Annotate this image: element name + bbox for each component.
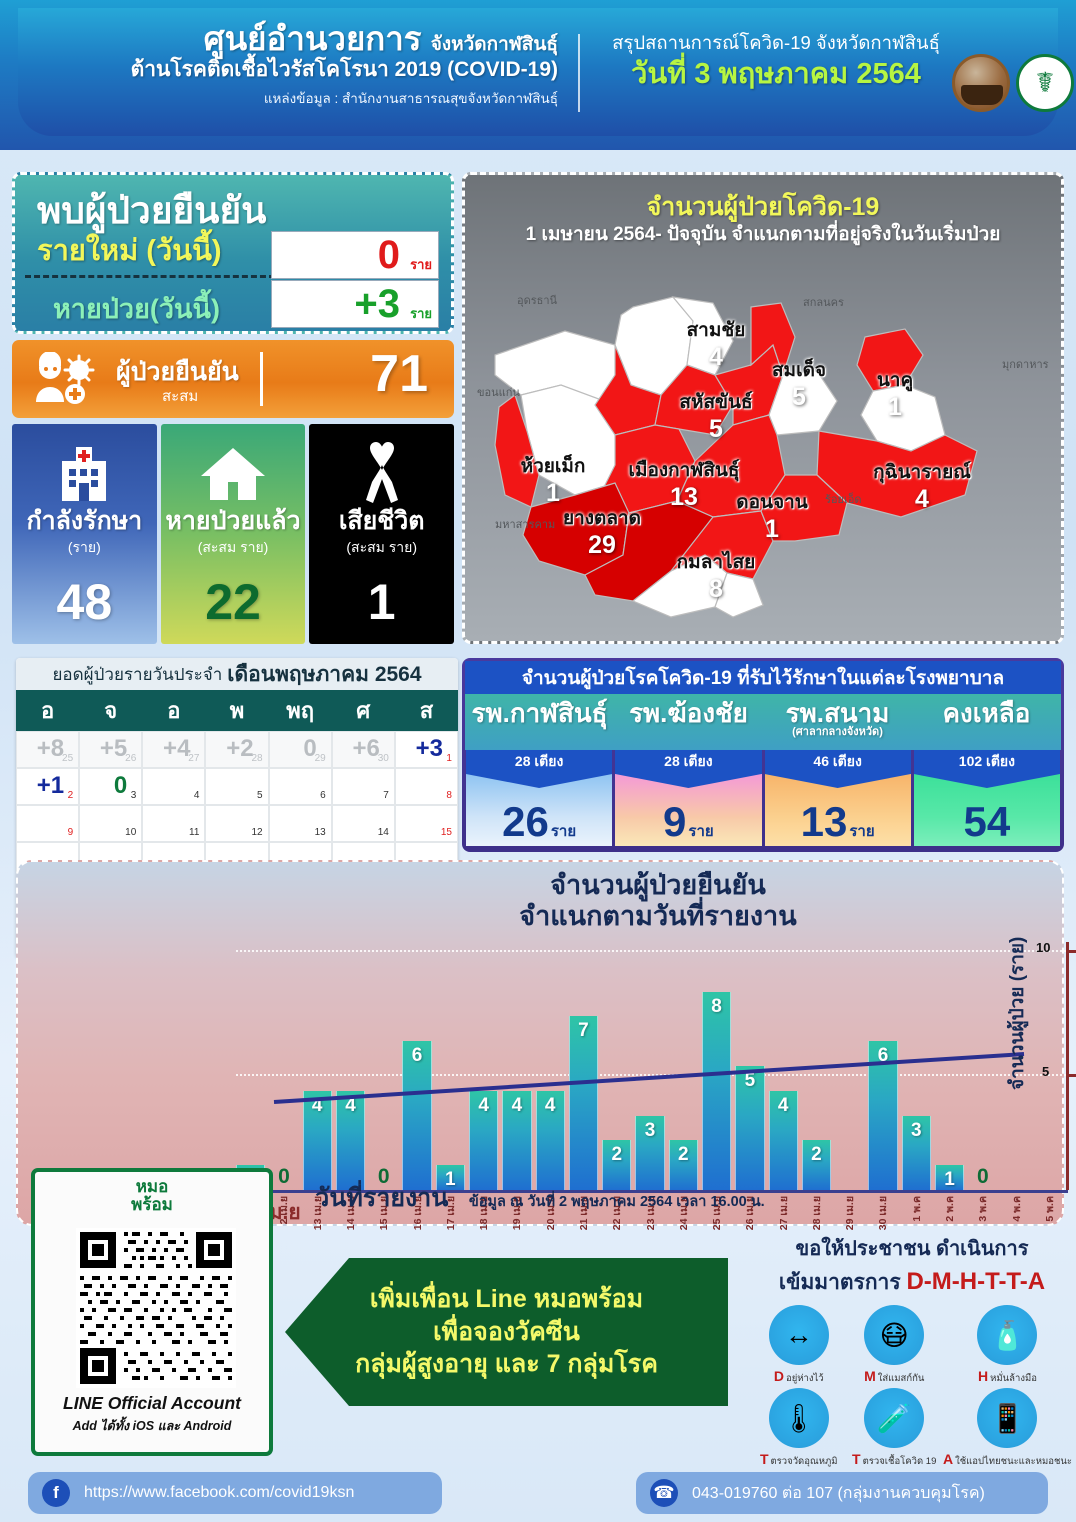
chart-plot-area: 10 5 1044061444723285426310 1 - 10 เม.ย … xyxy=(106,928,978,1120)
neighbor-label-sakonnakhon: สกลนคร xyxy=(803,293,844,311)
calendar-cell-date: 7 xyxy=(383,790,389,801)
calendar-cell-date: 14 xyxy=(378,827,389,838)
hospital-column-3: 102 เตียง54 xyxy=(914,750,1060,846)
hospital-body-0: 26ราย xyxy=(466,774,612,846)
calendar-cell[interactable]: 7 xyxy=(332,768,395,805)
calendar-cell-value: 0 xyxy=(80,772,127,800)
calendar-cell-date: 15 xyxy=(441,827,452,838)
facebook-footer-bar[interactable]: f https://www.facebook.com/covid19ksn xyxy=(28,1472,442,1514)
calendar-title: ยอดผู้ป่วยรายวันประจำ เดือนพฤษภาคม 2564 xyxy=(16,658,458,690)
district-kamalasai-name: กมลาไสย xyxy=(677,552,756,573)
calendar-cell-date: 25 xyxy=(62,753,73,764)
card-under-treatment-value: 48 xyxy=(12,573,157,631)
summary-line: สรุปสถานการณ์โควิด-19 จังหวัดกาฬสินธุ์ xyxy=(596,30,956,56)
hospital-body-1: 9ราย xyxy=(615,774,761,846)
dmhtta-caption-0: Dอยู่ห่างไว้ xyxy=(752,1368,845,1386)
district-kamalasai: กมลาไสย 8 xyxy=(651,547,781,604)
social-distancing-icon: ↔ xyxy=(769,1305,829,1365)
total-confirmed-value: 71 xyxy=(370,344,428,404)
card-deaths-value: 1 xyxy=(309,573,454,631)
calendar-cell[interactable]: 14 xyxy=(332,805,395,842)
hand-sanitizer-icon: 🧴 xyxy=(977,1305,1037,1365)
hospital-panel-title: จำนวนผู้ป่วยโรคโควิด-19 ที่รับไว้รักษาใน… xyxy=(465,661,1061,694)
neighbor-label-khonkaen: ขอนแก่น xyxy=(477,383,520,401)
patient-virus-icon xyxy=(30,352,102,406)
dmhtta-caption-2: Hหมั่นล้างมือ xyxy=(943,1368,1072,1386)
hospital-panel: จำนวนผู้ป่วยโรคโควิด-19 ที่รับไว้รักษาใน… xyxy=(462,658,1064,852)
calendar-cell-value: +8 xyxy=(17,735,64,763)
district-somdet-name: สมเด็จ xyxy=(772,360,826,381)
calendar-cell[interactable]: 12 xyxy=(205,805,268,842)
card-recovered-label: หายป่วยแล้ว xyxy=(161,508,306,536)
dmhtta-caption-1: Mใส่แมสก์กัน xyxy=(847,1368,940,1386)
header-divider xyxy=(578,34,580,112)
calendar-cell-date: 28 xyxy=(251,753,262,764)
report-date: วันที่ 3 พฤษภาคม 2564 xyxy=(596,56,956,92)
calendar-cell[interactable]: 4 xyxy=(142,768,205,805)
district-naku-value: 1 xyxy=(851,393,939,422)
district-donchan-value: 1 xyxy=(711,515,833,544)
neighbor-label-udonthani: อุดรธานี xyxy=(517,291,557,309)
hospital-beds-0: 28 เตียง xyxy=(466,750,612,774)
dmhtta-title2: เข้มมาตรการ D-M-H-T-T-A xyxy=(752,1266,1072,1299)
hospital-column-0: 28 เตียง26ราย xyxy=(466,750,612,846)
banner-line3: กลุ่มผู้สูงอายุ และ 7 กลุ่มโรค xyxy=(355,1348,658,1381)
calendar-cell[interactable]: 5 xyxy=(205,768,268,805)
card-recovered: หายป่วยแล้ว (สะสม ราย) 22 xyxy=(161,424,306,644)
calendar-title-prefix: ยอดผู้ป่วยรายวันประจำ xyxy=(52,661,222,688)
calendar-dayname-2: อ xyxy=(142,690,205,731)
calendar-cell-date: 13 xyxy=(315,827,326,838)
calendar-dayname-6: ส xyxy=(395,690,458,731)
chart-title: จำนวนผู้ป่วยยืนยัน จำแนกตามวันที่รายงาน xyxy=(448,870,868,932)
calendar-cell-value: +2 xyxy=(206,735,253,763)
chart-data-note: ข้อมูล ณ วันที่ 2 พฤษภาคม 2564 เวลา 16.0… xyxy=(469,1194,765,1210)
header-inner: ศูนย์อำนวยการ จังหวัดกาฬสินธุ์ ต้านโรคติ… xyxy=(18,8,1058,136)
province-seal-icon xyxy=(952,54,1010,112)
hospital-icon xyxy=(12,440,157,506)
calendar-cell-date: 26 xyxy=(125,753,136,764)
new-cases-value-box: 0 ราย xyxy=(271,231,439,279)
org-title-line1: ศูนย์อำนวยการ จังหวัดกาฬสินธุ์ xyxy=(38,22,558,57)
hospital-beds-1: 28 เตียง xyxy=(615,750,761,774)
hospital-name-3: คงเหลือ xyxy=(912,694,1061,750)
new-cases-unit: ราย xyxy=(410,254,432,275)
district-sahatsakhan-value: 5 xyxy=(653,415,779,444)
calendar-cell[interactable]: +427 xyxy=(142,731,205,768)
calendar-cell[interactable]: +630 xyxy=(332,731,395,768)
dmhtta-item-t-4: 🧪Tตรวจเชื้อโควิด 19 xyxy=(847,1388,940,1469)
district-naku-name: นาคู xyxy=(877,370,913,391)
calendar-cell-date: 11 xyxy=(189,827,199,838)
district-mueangkalasin-name: เมืองกาฬสินธุ์ xyxy=(628,460,739,481)
calendar-cell-date: 29 xyxy=(315,753,326,764)
total-confirmed-bar: ผู้ป่วยยืนยัน สะสม 71 xyxy=(12,340,454,418)
district-map-panel: จำนวนผู้ป่วยโควิด-19 1 เมษายน 2564- ปัจจ… xyxy=(462,172,1064,644)
page-header: ศูนย์อำนวยการ จังหวัดกาฬสินธุ์ ต้านโรคติ… xyxy=(0,0,1076,150)
hospital-values-row: 28 เตียง26ราย28 เตียง9ราย46 เตียง13ราย10… xyxy=(465,750,1061,846)
line-account-title: LINE Official Account xyxy=(35,1393,269,1414)
thermometer-icon: 🌡 xyxy=(769,1388,829,1448)
hospital-name-1: รพ.ฆ้องชัย xyxy=(614,694,763,750)
banner-line2: เพื่อจองวัคซีน xyxy=(433,1316,580,1349)
vaccine-registration-banner: เพิ่มเพื่อน Line หมอพร้อม เพื่อจองวัคซีน… xyxy=(285,1258,728,1406)
calendar-cell-value: +5 xyxy=(80,735,127,763)
dmhtta-item-m-1: 😷Mใส่แมสก์กัน xyxy=(847,1305,940,1386)
calendar-cell[interactable]: +228 xyxy=(205,731,268,768)
dmhtta-panel: ขอให้ประชาชน ดำเนินการ เข้มมาตรการ D-M-H… xyxy=(752,1232,1072,1460)
total-bar-separator xyxy=(260,352,263,406)
card-deaths-label: เสียชีวิต xyxy=(309,508,454,536)
dmhtta-item-d-0: ↔Dอยู่ห่างไว้ xyxy=(752,1305,845,1386)
district-kamalasai-value: 8 xyxy=(651,575,781,604)
calendar-cell-date: 12 xyxy=(251,827,262,838)
trend-line xyxy=(234,942,1066,1190)
home-icon xyxy=(161,440,306,506)
district-sahatsakhan: สหัสขันธ์ 5 xyxy=(653,387,779,444)
calendar-cell[interactable]: 029 xyxy=(269,731,332,768)
hospital-body-3: 54 xyxy=(914,774,1060,846)
calendar-cell[interactable]: +12 xyxy=(16,768,79,805)
dmhtta-items: ↔Dอยู่ห่างไว้😷Mใส่แมสก์กัน🧴Hหมั่นล้างมือ… xyxy=(752,1305,1072,1469)
data-source-text: แหล่งข้อมูล : สำนักงานสาธารณสุขจังหวัดกา… xyxy=(38,87,558,109)
card-deaths-sub: (สะสม ราย) xyxy=(309,537,454,559)
dmhtta-caption-3: Tตรวจวัดอุณหภูมิ xyxy=(752,1451,845,1469)
face-mask-icon: 😷 xyxy=(864,1305,924,1365)
district-samchai-name: สามชัย xyxy=(687,320,746,341)
dmhtta-item-t-3: 🌡Tตรวจวัดอุณหภูมิ xyxy=(752,1388,845,1469)
hospital-value-0: 26ราย xyxy=(466,801,612,843)
calendar-cell[interactable]: 9 xyxy=(16,805,79,842)
calendar-dayname-5: ศ xyxy=(332,690,395,731)
new-cases-value: 0 xyxy=(378,231,400,279)
dmhtta-code: D-M-H-T-T-A xyxy=(906,1268,1045,1295)
dmhtta-caption-5: Aใช้แอปไทยชนะและหมอชนะ xyxy=(943,1451,1072,1469)
phone-text[interactable]: 043-019760 ต่อ 107 (กลุ่มงานควบคุมโรค) xyxy=(692,1481,985,1506)
hospital-value-2: 13ราย xyxy=(765,801,911,843)
header-right: สรุปสถานการณ์โควิด-19 จังหวัดกาฬสินธุ์ ว… xyxy=(596,30,956,92)
calendar-cell-date: 9 xyxy=(68,827,74,838)
org-title-line2: ต้านโรคติดเชื้อไวรัสโคโรนา 2019 (COVID-1… xyxy=(38,57,558,83)
hospital-body-2: 13ราย xyxy=(765,774,911,846)
dmhtta-title2-prefix: เข้มมาตรการ xyxy=(779,1271,907,1294)
y-tick-10 xyxy=(1066,950,1076,953)
calendar-cell[interactable]: +825 xyxy=(16,731,79,768)
district-naku: นาคู 1 xyxy=(851,365,939,422)
calendar-cell-date: 2 xyxy=(68,790,74,801)
ribbon-icon xyxy=(309,440,454,506)
calendar-dayname-4: พฤ xyxy=(269,690,332,731)
calendar-cell-value: +4 xyxy=(143,735,190,763)
line-qr-card[interactable]: หมอ พร้อม LINE Official xyxy=(31,1168,273,1456)
recovered-today-value: +3 xyxy=(354,280,400,328)
hospital-names-row: รพ.กาฬสินธุ์รพ.ฆ้องชัยรพ.สนาม(ศาลากลางจั… xyxy=(465,694,1061,750)
card-under-treatment: กำลังรักษา (ราย) 48 xyxy=(12,424,157,644)
org-title-province: จังหวัดกาฬสินธุ์ xyxy=(431,34,558,55)
calendar-cell-value: +6 xyxy=(333,735,380,763)
qr-code[interactable] xyxy=(62,1228,250,1388)
phone-icon: ☎ xyxy=(650,1479,678,1507)
phone-footer-bar[interactable]: ☎ 043-019760 ต่อ 107 (กลุ่มงานควบคุมโรค) xyxy=(636,1472,1048,1514)
calendar-cell-date: 8 xyxy=(446,790,452,801)
banner-line1: เพิ่มเพื่อน Line หมอพร้อม xyxy=(370,1283,643,1316)
calendar-cell-date: 6 xyxy=(320,790,326,801)
calendar-dayname-3: พ xyxy=(205,690,268,731)
hospital-column-1: 28 เตียง9ราย xyxy=(615,750,761,846)
district-sahatsakhan-name: สหัสขันธ์ xyxy=(679,392,752,413)
district-donchan-name: ดอนจาน xyxy=(736,492,808,513)
dmhtta-title1: ขอให้ประชาชน ดำเนินการ xyxy=(752,1232,1072,1264)
calendar-cell-date: 1 xyxy=(446,753,452,764)
calendar-cell-value: +1 xyxy=(17,772,64,800)
calendar-cell[interactable]: 8 xyxy=(395,768,458,805)
total-confirmed-sub: สะสม xyxy=(162,384,198,408)
card-deaths: เสียชีวิต (สะสม ราย) 1 xyxy=(309,424,454,644)
calendar-cell-value: +3 xyxy=(396,735,443,763)
calendar-cell-date: 4 xyxy=(194,790,200,801)
district-kuchinarai-name: กุฉินารายณ์ xyxy=(873,462,971,483)
card-recovered-sub: (สะสม ราย) xyxy=(161,537,306,559)
mor-prom-brand: หมอ พร้อม xyxy=(35,1178,269,1214)
dmhtta-caption-4: Tตรวจเชื้อโควิด 19 xyxy=(847,1451,940,1469)
calendar-dayname-0: อ xyxy=(16,690,79,731)
y-axis xyxy=(1066,942,1069,1190)
ministry-of-public-health-seal-icon: ☤ xyxy=(1016,54,1074,112)
brand-line1: หมอ xyxy=(35,1178,269,1196)
new-cases-panel: พบผู้ป่วยยืนยัน รายใหม่ (วันนี้) หายป่วย… xyxy=(12,172,454,334)
calendar-cell-value: 0 xyxy=(270,735,317,763)
y-tick-5 xyxy=(1066,1074,1076,1077)
calendar-cell-date: 10 xyxy=(125,827,136,838)
org-title-main: ศูนย์อำนวยการ xyxy=(204,20,422,57)
recovered-today-unit: ราย xyxy=(410,303,432,324)
calendar-cell-date: 3 xyxy=(131,790,137,801)
brand-line2: พร้อม xyxy=(35,1196,269,1214)
calendar-cell-date: 30 xyxy=(378,753,389,764)
calendar-cell[interactable]: 10 xyxy=(79,805,142,842)
dmhtta-item-a-5: 📱Aใช้แอปไทยชนะและหมอชนะ xyxy=(943,1388,1072,1469)
hospital-value-3: 54 xyxy=(914,801,1060,843)
district-huaimek: ห้วยเม็ก 1 xyxy=(501,451,605,508)
neighbor-label-mukdahan: มุกดาหาร xyxy=(1002,355,1049,373)
chart-title-line1: จำนวนผู้ป่วยยืนยัน xyxy=(448,870,868,901)
district-kuchinarai-value: 4 xyxy=(835,485,1009,514)
calendar-cell[interactable]: 15 xyxy=(395,805,458,842)
calendar-day-names: อจอพพฤศส xyxy=(16,690,458,731)
calendar-cell[interactable]: 11 xyxy=(142,805,205,842)
card-under-treatment-label: กำลังรักษา xyxy=(12,508,157,536)
district-donchan: ดอนจาน 1 xyxy=(711,487,833,544)
calendar-dayname-1: จ xyxy=(79,690,142,731)
hospital-beds-2: 46 เตียง xyxy=(765,750,911,774)
chart-x-axis-title: วันที่รายงาน xyxy=(315,1184,448,1212)
calendar-cell-date: 5 xyxy=(257,790,263,801)
calendar-cell[interactable]: +31 xyxy=(395,731,458,768)
calendar-cell[interactable]: 03 xyxy=(79,768,142,805)
dmhtta-item-h-2: 🧴Hหมั่นล้างมือ xyxy=(943,1305,1072,1386)
line-account-subtitle: Add ได้ทั้ง iOS และ Android xyxy=(35,1416,269,1436)
hospital-beds-3: 102 เตียง xyxy=(914,750,1060,774)
card-under-treatment-sub: (ราย) xyxy=(12,537,157,559)
calendar-title-month: เดือนพฤษภาคม 2564 xyxy=(227,658,421,691)
new-cases-divider xyxy=(25,275,275,278)
card-recovered-value: 22 xyxy=(161,573,306,631)
hospital-value-1: 9ราย xyxy=(615,801,761,843)
chart-y-axis-title: จำนวนผู้ป่วย (ราย) xyxy=(1003,898,1033,1128)
recovered-today-label: หายป่วย(วันนี้) xyxy=(53,287,220,330)
calendar-cell[interactable]: 13 xyxy=(269,805,332,842)
facebook-icon: f xyxy=(42,1479,70,1507)
district-kuchinarai: กุฉินารายณ์ 4 xyxy=(835,457,1009,514)
hospital-name-0: รพ.กาฬสินธุ์ xyxy=(465,694,614,750)
hospital-name-2: รพ.สนาม(ศาลากลางจังหวัด) xyxy=(763,694,912,750)
calendar-cell[interactable]: +526 xyxy=(79,731,142,768)
hospital-column-2: 46 เตียง13ราย xyxy=(765,750,911,846)
header-left: ศูนย์อำนวยการ จังหวัดกาฬสินธุ์ ต้านโรคติ… xyxy=(38,22,558,109)
district-yangtalat-name: ยางตลาด xyxy=(563,508,641,529)
calendar-cell-date: 27 xyxy=(188,753,199,764)
calendar-cell[interactable]: 6 xyxy=(269,768,332,805)
new-cases-label: รายใหม่ (วันนี้) xyxy=(37,227,222,273)
mobile-app-icon: 📱 xyxy=(977,1388,1037,1448)
recovered-today-value-box: +3 ราย xyxy=(271,280,439,328)
test-tube-icon: 🧪 xyxy=(864,1388,924,1448)
status-cards: กำลังรักษา (ราย) 48 หายป่วยแล้ว (สะสม รา… xyxy=(12,424,454,644)
district-huaimek-name: ห้วยเม็ก xyxy=(521,456,586,477)
facebook-url[interactable]: https://www.facebook.com/covid19ksn xyxy=(84,1484,354,1502)
